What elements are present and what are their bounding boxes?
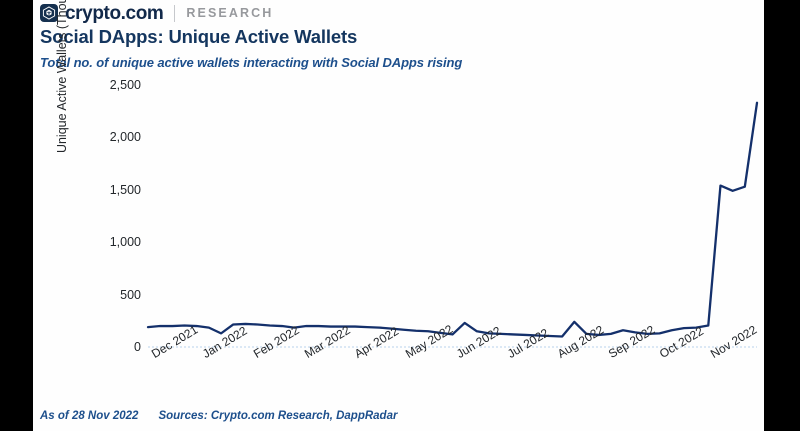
y-tick-label: 1,000: [85, 235, 141, 249]
page-subtitle: Total no. of unique active wallets inter…: [40, 55, 462, 70]
y-tick-label: 0: [85, 340, 141, 354]
brand-divider: [174, 5, 175, 22]
as-of-date: As of 28 Nov 2022: [40, 410, 138, 422]
data-line-unique-active-wallets: [148, 103, 757, 337]
y-tick-label: 2,500: [85, 78, 141, 92]
screenshot-root: crypto.com RESEARCH Social DApps: Unique…: [0, 0, 800, 431]
y-tick-label: 2,000: [85, 130, 141, 144]
footer: As of 28 Nov 2022 Sources: Crypto.com Re…: [40, 410, 397, 422]
brand-division: RESEARCH: [186, 7, 273, 20]
y-tick-label: 1,500: [85, 183, 141, 197]
x-axis-ticks: Dec 2021Jan 2022Feb 2022Mar 2022Apr 2022…: [148, 349, 757, 395]
page-title: Social DApps: Unique Active Wallets: [40, 26, 357, 48]
report-card: crypto.com RESEARCH Social DApps: Unique…: [33, 0, 764, 431]
brand-bar: crypto.com RESEARCH: [40, 1, 273, 25]
chart-plot-panel: [148, 85, 757, 347]
sources-note: Sources: Crypto.com Research, DappRadar: [158, 410, 397, 422]
brand-name: crypto.com: [65, 4, 163, 23]
y-axis-ticks: 05001,0001,5002,0002,500: [75, 85, 141, 347]
y-tick-label: 500: [85, 288, 141, 302]
chart-area: Unique Active Wallets (Thousands) 05001,…: [40, 85, 757, 395]
y-axis-label: Unique Active Wallets (Thousands): [52, 0, 72, 181]
